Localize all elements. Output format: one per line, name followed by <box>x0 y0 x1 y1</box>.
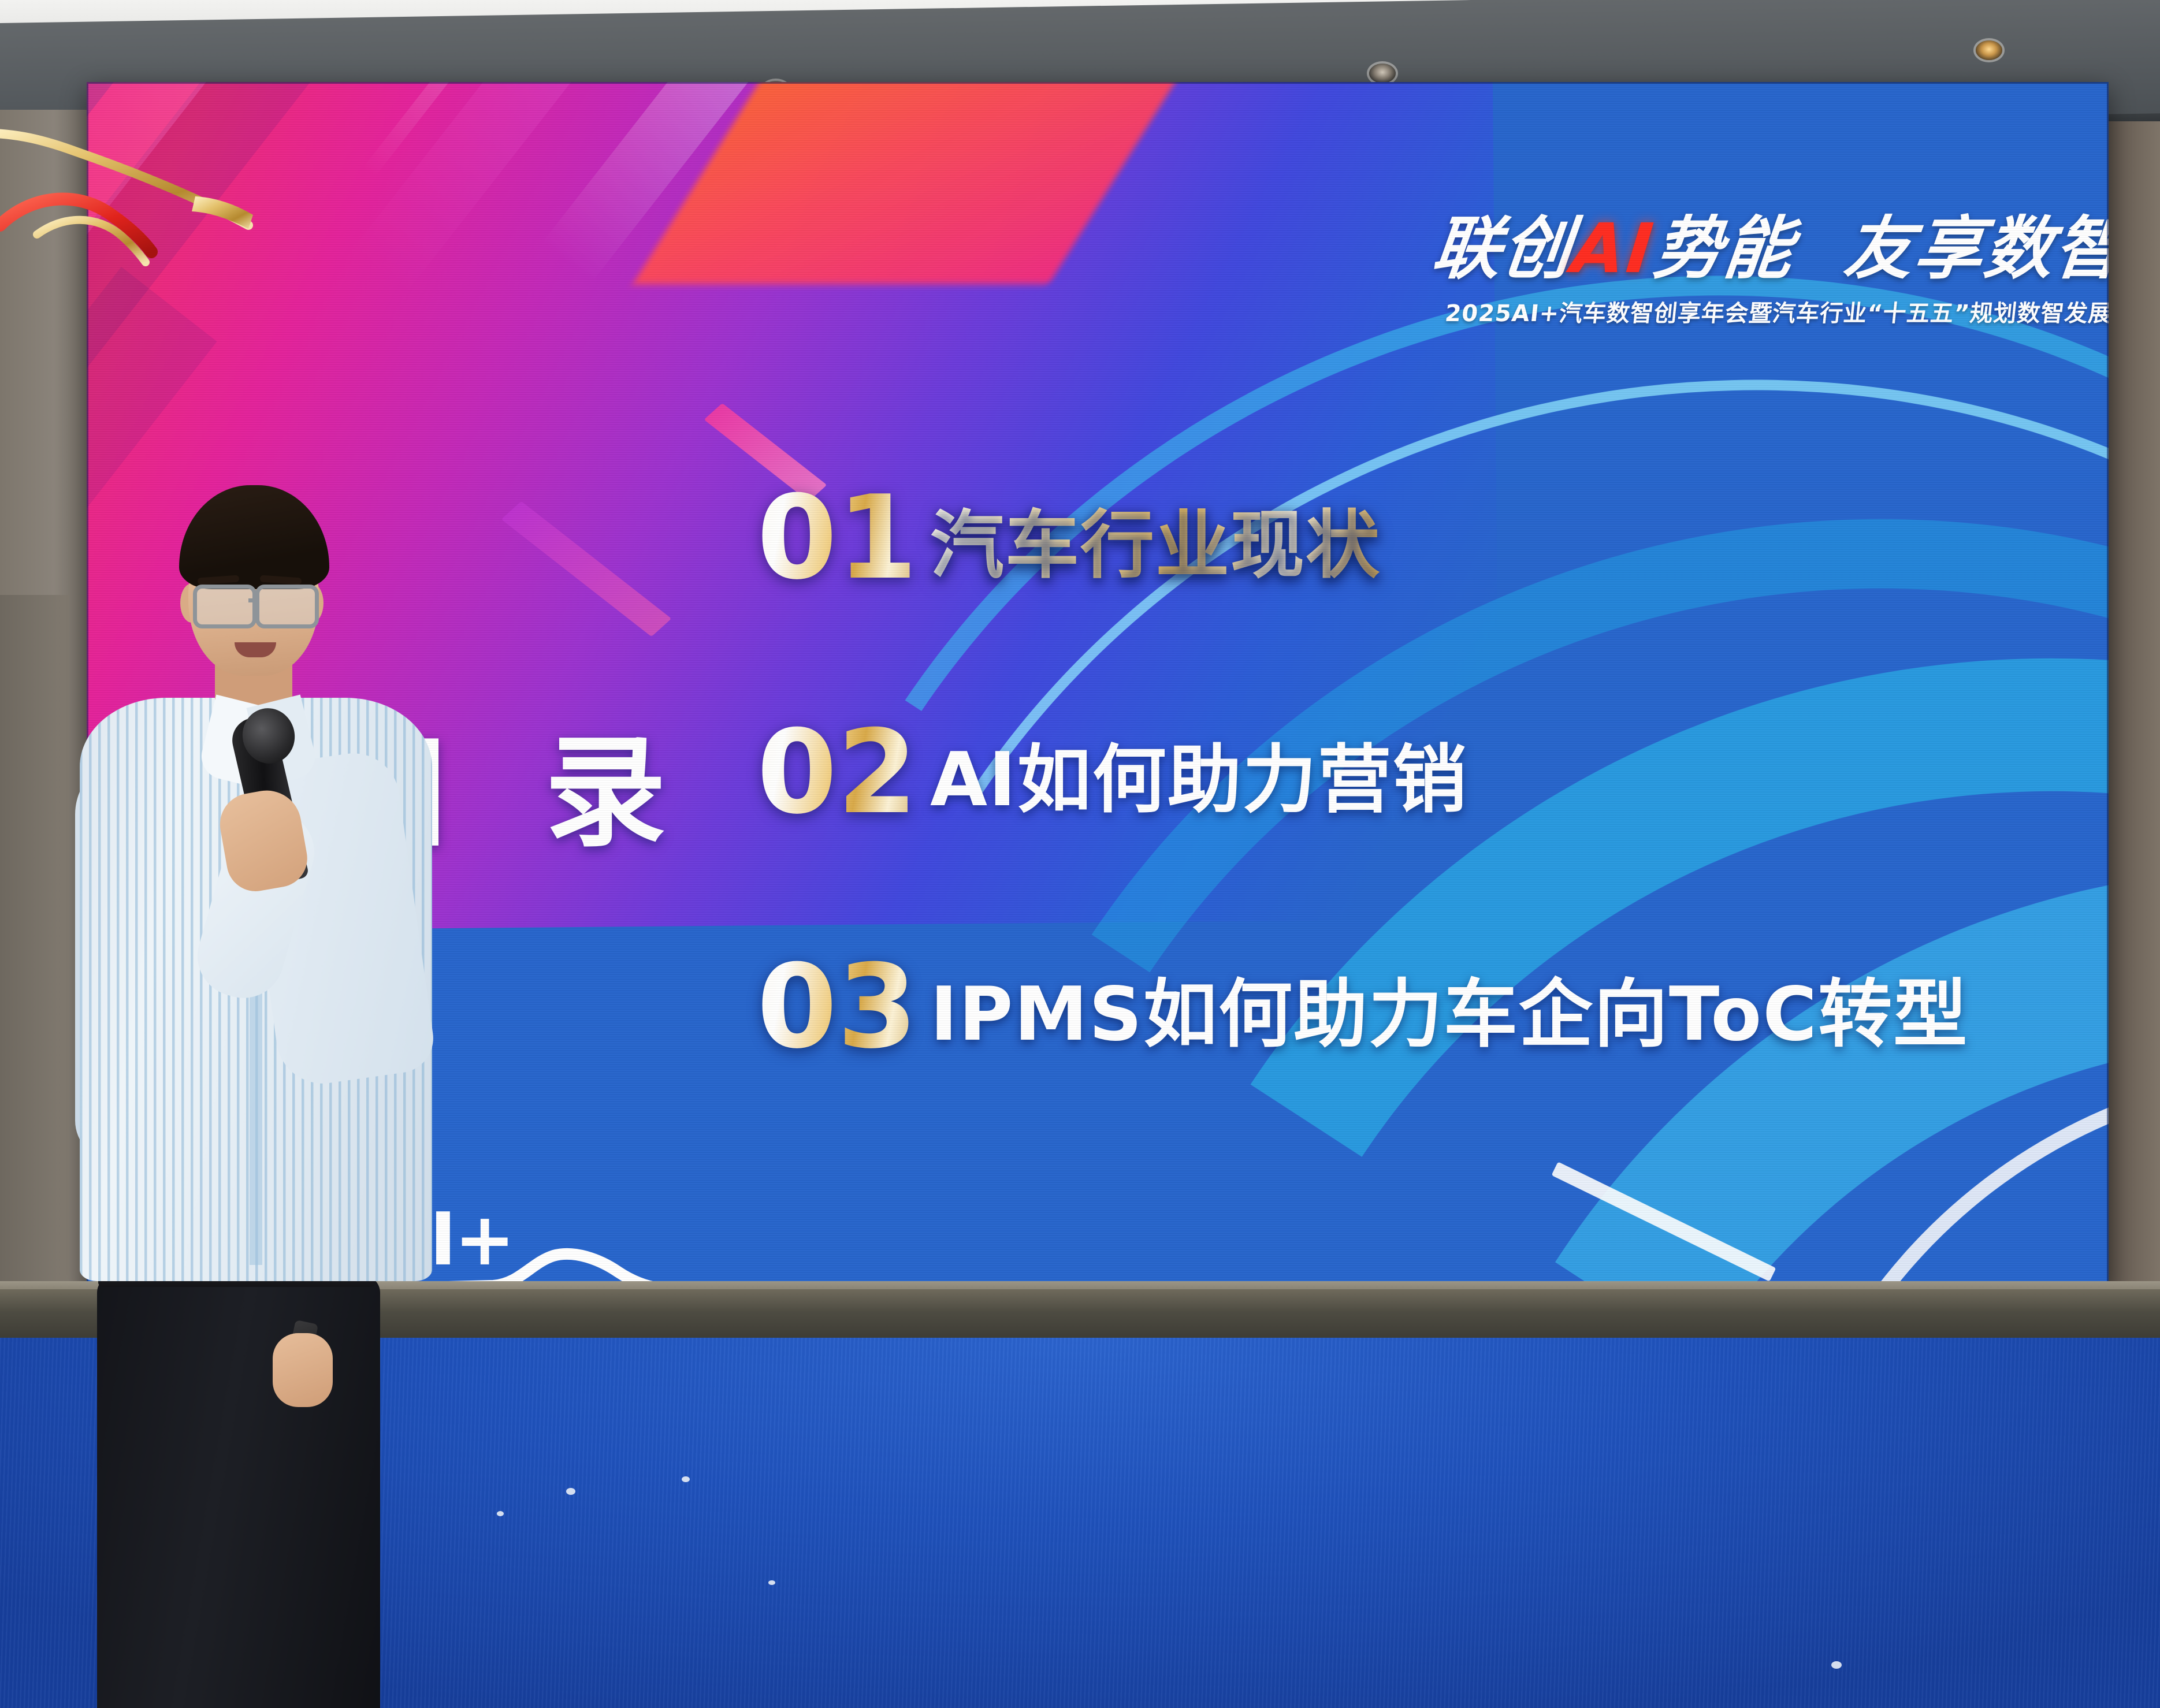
carpet-debris <box>1831 1661 1842 1669</box>
carpet-debris <box>768 1580 775 1585</box>
eyeglasses-icon <box>193 585 256 628</box>
carpet-debris <box>682 1476 690 1482</box>
presenter-figure <box>69 485 462 1635</box>
carpet-debris <box>566 1488 575 1495</box>
ceiling-downlight-icon <box>1976 40 2002 60</box>
presenter-trousers <box>97 1275 380 1708</box>
eyeglasses-bridge <box>248 598 258 602</box>
wall-left-lower <box>0 595 69 1363</box>
carpet-debris <box>497 1511 504 1516</box>
ceiling-downlight-icon <box>1369 64 1396 83</box>
eyeglasses-icon <box>255 585 319 628</box>
conference-stage-photo: 联创AI势能 友享数智变革 2025AI+汽车数智创享年会暨汽车行业“十五五”规… <box>0 0 2160 1708</box>
presenter-hand-holding-remote <box>273 1333 333 1407</box>
presenter-hair <box>179 485 329 589</box>
